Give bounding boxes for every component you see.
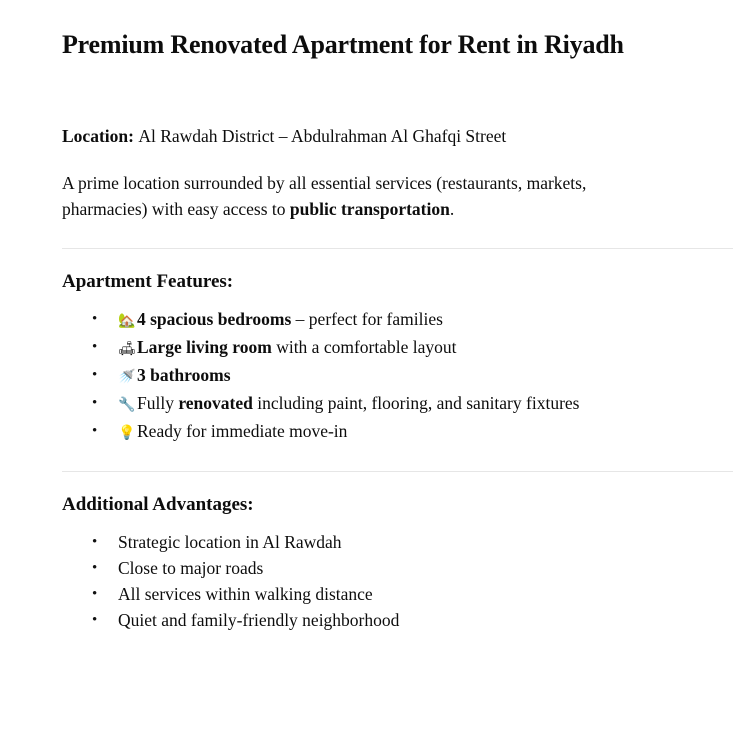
list-item: 💡Ready for immediate move-in [62,418,733,446]
intro-paragraph: A prime location surrounded by all essen… [62,149,662,223]
location-value: Al Rawdah District – Abdulrahman Al Ghaf… [138,126,506,146]
feature-rest-text: Ready for immediate move-in [137,421,347,441]
list-item: 🏡4 spacious bedrooms – perfect for famil… [62,306,733,334]
document-page: Premium Renovated Apartment for Rent in … [0,0,750,733]
wrench-icon: 🔧 [118,392,137,418]
page-title: Premium Renovated Apartment for Rent in … [62,0,733,60]
location-label: Location: [62,126,134,146]
feature-bold-text: 3 bathrooms [137,365,231,385]
advantages-heading: Additional Advantages: [62,472,733,516]
intro-emphasis: public transportation [290,199,450,219]
house-with-garden-icon: 🏡 [118,308,137,334]
feature-bold-text: renovated [178,393,253,413]
feature-rest-text: with a comfortable layout [272,337,457,357]
intro-text-after: . [450,199,454,219]
feature-rest-text: – perfect for families [291,309,443,329]
location-line: Location: Al Rawdah District – Abdulrahm… [62,60,733,149]
features-list: 🏡4 spacious bedrooms – perfect for famil… [62,293,733,446]
list-item: 🔧Fully renovated including paint, floori… [62,390,733,418]
advantage-text: All services within walking distance [118,584,373,604]
advantages-list: Strategic location in Al Rawdah Close to… [62,516,733,633]
advantage-text: Close to major roads [118,558,263,578]
feature-bold-text: Large living room [137,337,272,357]
features-heading: Apartment Features: [62,249,733,293]
list-item: 🛋Large living room with a comfortable la… [62,334,733,362]
couch-and-lamp-icon: 🛋 [118,336,137,362]
feature-pre-text: Fully [137,393,178,413]
shower-icon: 🚿 [118,364,137,390]
list-item: 🚿3 bathrooms [62,362,733,390]
light-bulb-icon: 💡 [118,420,137,446]
list-item: Quiet and family-friendly neighborhood [62,607,733,633]
list-item: All services within walking distance [62,581,733,607]
advantage-text: Quiet and family-friendly neighborhood [118,610,399,630]
advantage-text: Strategic location in Al Rawdah [118,532,342,552]
feature-bold-text: 4 spacious bedrooms [137,309,291,329]
feature-rest-text: including paint, flooring, and sanitary … [253,393,580,413]
list-item: Close to major roads [62,555,733,581]
list-item: Strategic location in Al Rawdah [62,529,733,555]
